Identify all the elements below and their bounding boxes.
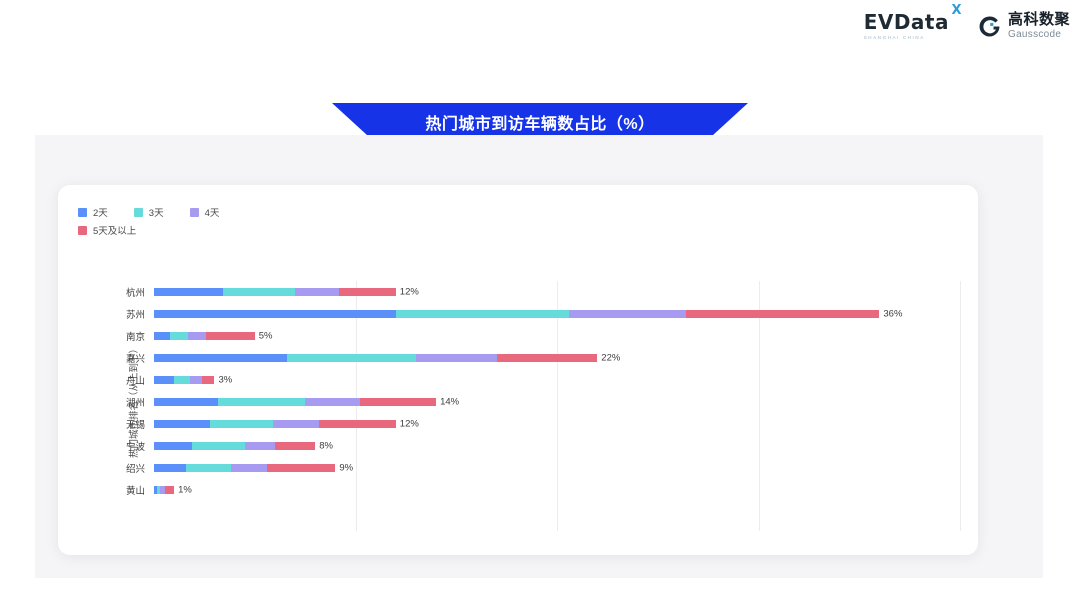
stacked-bar[interactable] <box>154 310 879 318</box>
bar-segment[interactable] <box>497 354 598 362</box>
evdata-wordmark: EVDataX <box>864 12 949 32</box>
bar-segment[interactable] <box>396 310 569 318</box>
bar-track: 9% <box>154 457 960 479</box>
stacked-bar[interactable] <box>154 464 335 472</box>
bar-value-label: 12% <box>396 419 419 430</box>
bar-segment[interactable] <box>154 398 218 406</box>
bar-row[interactable]: 舟山3% <box>98 369 960 391</box>
legend-label: 5天及以上 <box>93 223 136 237</box>
evdata-tagline: shanghai china <box>864 35 925 40</box>
bar-track: 8% <box>154 435 960 457</box>
bar-segment[interactable] <box>295 288 339 296</box>
bar-segment[interactable] <box>416 354 497 362</box>
category-label: 嘉兴 <box>98 351 154 365</box>
legend-item[interactable]: 3天 <box>134 205 164 219</box>
evdata-superscript-x: X <box>951 4 962 17</box>
bar-segment[interactable] <box>267 464 336 472</box>
bar-track: 36% <box>154 303 960 325</box>
evdata-logo: EVDataX shanghai china <box>864 12 949 40</box>
bar-segment[interactable] <box>165 486 174 494</box>
bar-segment[interactable] <box>154 464 186 472</box>
bar-segment[interactable] <box>154 376 174 384</box>
logo-divider <box>963 12 964 40</box>
category-label: 宁波 <box>98 439 154 453</box>
legend-item[interactable]: 4天 <box>190 205 220 219</box>
legend-label: 3天 <box>149 205 164 219</box>
gausscode-logo: 高科数聚 Gausscode <box>978 12 1070 40</box>
legend-swatch-icon <box>190 208 199 217</box>
bar-segment[interactable] <box>154 310 396 318</box>
slide-page: EVDataX shanghai china 高科数聚 Gausscode 热门… <box>0 0 1080 608</box>
bar-segment[interactable] <box>154 354 287 362</box>
bar-row[interactable]: 湖州14% <box>98 391 960 413</box>
bar-value-label: 22% <box>597 353 620 364</box>
bar-segment[interactable] <box>287 354 416 362</box>
bar-track: 22% <box>154 347 960 369</box>
bar-segment[interactable] <box>245 442 275 450</box>
legend-swatch-icon <box>78 226 87 235</box>
stacked-bar[interactable] <box>154 420 396 428</box>
category-label: 南京 <box>98 329 154 343</box>
stacked-bar[interactable] <box>154 288 396 296</box>
stacked-bar[interactable] <box>154 398 436 406</box>
bar-segment[interactable] <box>569 310 686 318</box>
stacked-bar[interactable] <box>154 442 315 450</box>
gridline <box>960 281 961 531</box>
bar-segment[interactable] <box>170 332 188 340</box>
bar-row[interactable]: 苏州36% <box>98 303 960 325</box>
bar-value-label: 8% <box>315 441 333 452</box>
bar-segment[interactable] <box>305 398 359 406</box>
legend-label: 4天 <box>205 205 220 219</box>
legend-label: 2天 <box>93 205 108 219</box>
bar-segment[interactable] <box>275 442 315 450</box>
stacked-bar[interactable] <box>154 376 214 384</box>
bar-row[interactable]: 南京5% <box>98 325 960 347</box>
bar-value-label: 3% <box>214 375 232 386</box>
bar-row[interactable]: 嘉兴22% <box>98 347 960 369</box>
bar-value-label: 12% <box>396 287 419 298</box>
bar-value-label: 14% <box>436 397 459 408</box>
bar-segment[interactable] <box>686 310 879 318</box>
bar-segment[interactable] <box>188 332 206 340</box>
bar-value-label: 5% <box>255 331 273 342</box>
category-label: 绍兴 <box>98 461 154 475</box>
bar-segment[interactable] <box>154 420 210 428</box>
category-label: 杭州 <box>98 285 154 299</box>
bar-track: 12% <box>154 281 960 303</box>
bar-segment[interactable] <box>319 420 396 428</box>
bar-row[interactable]: 宁波8% <box>98 435 960 457</box>
bar-segment[interactable] <box>210 420 272 428</box>
bar-segment[interactable] <box>174 376 190 384</box>
legend-item[interactable]: 5天及以上 <box>78 223 378 237</box>
legend-swatch-icon <box>134 208 143 217</box>
gausscode-name-en: Gausscode <box>1008 30 1070 40</box>
chart-card: 2天3天4天5天及以上 热门城市排名（从上到下） 杭州12%苏州36%南京5%嘉… <box>58 185 978 555</box>
bar-segment[interactable] <box>186 464 230 472</box>
bar-track: 5% <box>154 325 960 347</box>
category-label: 舟山 <box>98 373 154 387</box>
bar-segment[interactable] <box>154 332 170 340</box>
bar-value-label: 9% <box>335 463 353 474</box>
brand-bar: EVDataX shanghai china 高科数聚 Gausscode <box>864 12 1070 40</box>
page-title: 热门城市到访车辆数占比（%） <box>425 110 654 134</box>
category-label: 苏州 <box>98 307 154 321</box>
bar-track: 14% <box>154 391 960 413</box>
bar-track: 3% <box>154 369 960 391</box>
bar-segment[interactable] <box>154 442 192 450</box>
chart-plot-area: 热门城市排名（从上到下） 杭州12%苏州36%南京5%嘉兴22%舟山3%湖州14… <box>80 281 960 521</box>
bar-segment[interactable] <box>223 288 296 296</box>
bar-segment[interactable] <box>273 420 319 428</box>
bar-value-label: 36% <box>879 309 902 320</box>
bar-row[interactable]: 黄山1% <box>98 479 960 501</box>
bar-segment[interactable] <box>218 398 305 406</box>
bar-row[interactable]: 无锡12% <box>98 413 960 435</box>
stacked-bar[interactable] <box>154 486 174 494</box>
bar-segment[interactable] <box>202 376 214 384</box>
category-label: 黄山 <box>98 483 154 497</box>
category-label: 无锡 <box>98 417 154 431</box>
bar-segment[interactable] <box>206 332 254 340</box>
bar-segment[interactable] <box>339 288 395 296</box>
bar-row[interactable]: 杭州12% <box>98 281 960 303</box>
chart-legend: 2天3天4天5天及以上 <box>78 205 378 241</box>
legend-swatch-icon <box>78 208 87 217</box>
bar-rows: 杭州12%苏州36%南京5%嘉兴22%舟山3%湖州14%无锡12%宁波8%绍兴9… <box>98 281 960 521</box>
bar-segment[interactable] <box>154 288 223 296</box>
category-label: 湖州 <box>98 395 154 409</box>
bar-segment[interactable] <box>360 398 437 406</box>
legend-item[interactable]: 2天 <box>78 205 108 219</box>
gausscode-name-cn: 高科数聚 <box>1008 12 1070 27</box>
bar-track: 1% <box>154 479 960 501</box>
stacked-bar[interactable] <box>154 354 597 362</box>
evdata-wordmark-text: EVData <box>864 10 949 34</box>
bar-segment[interactable] <box>192 442 244 450</box>
bar-segment[interactable] <box>190 376 202 384</box>
bar-value-label: 1% <box>174 485 192 496</box>
bar-track: 12% <box>154 413 960 435</box>
gausscode-g-icon <box>978 15 1001 38</box>
bar-segment[interactable] <box>231 464 267 472</box>
bar-row[interactable]: 绍兴9% <box>98 457 960 479</box>
stacked-bar[interactable] <box>154 332 255 340</box>
